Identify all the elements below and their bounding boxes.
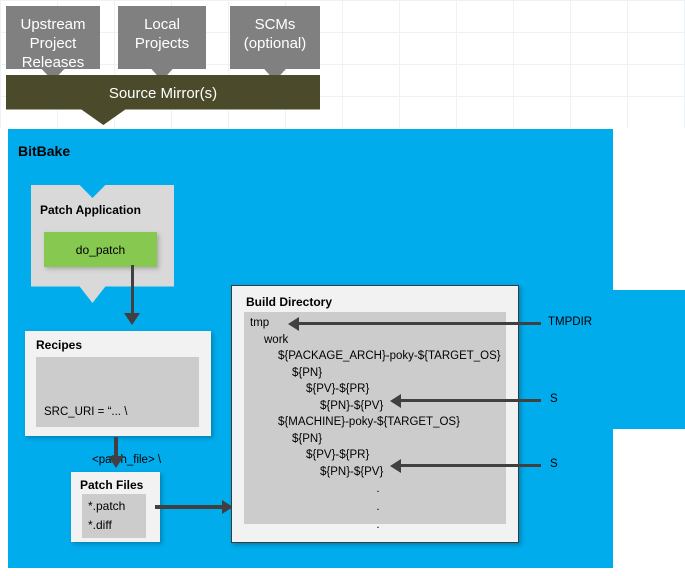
upstream-line-1: Upstream	[20, 16, 85, 33]
patch-file-item: *.diff	[88, 516, 125, 535]
arrow-s-second-line	[400, 464, 541, 467]
arrow-s-first-line	[400, 399, 541, 402]
arrow-tmpdir-line	[298, 322, 541, 325]
arrow-left-icon	[390, 459, 401, 473]
arrow-down-icon	[108, 456, 124, 468]
upstream-line-2: Project	[30, 35, 77, 52]
upstream-project-releases-label: Upstream Project Releases	[20, 15, 85, 72]
diagram-canvas: BitBake Upstream Project Releases Local …	[0, 0, 685, 576]
recipes-title: Recipes	[36, 338, 82, 352]
s-first-label: S	[550, 393, 558, 405]
build-tree-node: .	[250, 516, 506, 534]
scms-box: SCMs (optional)	[230, 6, 320, 81]
scms-line-1: SCMs	[255, 16, 296, 33]
build-tree-node: work	[250, 332, 506, 349]
build-tree-node: ${MACHINE}-poky-${TARGET_OS}	[250, 414, 506, 431]
source-mirrors-label: Source Mirror(s)	[109, 85, 217, 102]
build-directory-title: Build Directory	[246, 295, 332, 309]
source-mirrors-box: Source Mirror(s)	[6, 75, 320, 125]
build-tree-node: ${PACKAGE_ARCH}-poky-${TARGET_OS}	[250, 348, 506, 365]
bitbake-label: BitBake	[18, 143, 70, 159]
tmpdir-label: TMPDIR	[548, 316, 592, 328]
build-tree-node: ${PV}-${PR}	[250, 447, 506, 464]
patch-files-list: *.patch *.diff	[88, 497, 125, 535]
arrow-down-icon	[124, 313, 140, 325]
build-tree-node: ${PV}-${PR}	[250, 381, 506, 398]
build-tree-node: .	[250, 480, 506, 498]
arrow-dopatch-to-recipes-line	[131, 265, 134, 315]
s-second-label: S	[550, 458, 558, 470]
src-uri-line-1: SRC_URI = “... \	[44, 404, 194, 420]
scms-label: SCMs (optional)	[244, 15, 307, 53]
upstream-line-3: Releases	[22, 54, 85, 71]
patch-application-title: Patch Application	[40, 203, 141, 217]
patch-files-title: Patch Files	[80, 478, 143, 492]
build-tree-node: ${PN}	[250, 431, 506, 448]
arrow-left-icon	[288, 317, 299, 331]
arrow-patchfiles-to-builddir-line	[155, 505, 225, 509]
do-patch-task[interactable]: do_patch	[44, 232, 157, 267]
build-directory-tree: tmpwork${PACKAGE_ARCH}-poky-${TARGET_OS}…	[250, 315, 506, 534]
local-projects-box: Local Projects	[118, 6, 206, 81]
local-line-2: Projects	[135, 35, 189, 52]
upstream-project-releases-box: Upstream Project Releases	[6, 6, 100, 81]
build-tree-node: .	[250, 498, 506, 516]
local-line-1: Local	[144, 16, 180, 33]
build-tree-node: ${PN}	[250, 365, 506, 382]
arrow-left-icon	[390, 394, 401, 408]
patch-file-item: *.patch	[88, 497, 125, 516]
local-projects-label: Local Projects	[135, 15, 189, 53]
scms-line-2: (optional)	[244, 35, 307, 52]
